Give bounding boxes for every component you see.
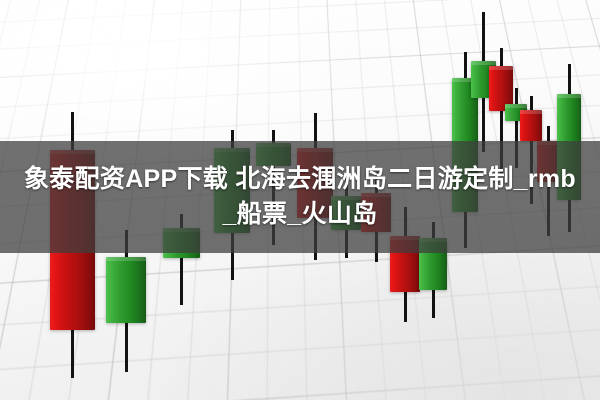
page-title: 象泰配资APP下载 北海去涠洲岛二日游定制_rmb _船票_火山岛 [0, 141, 600, 253]
candle-body-highlight [106, 257, 146, 261]
title-line-2: _船票_火山岛 [223, 197, 378, 233]
candle-body-highlight [489, 66, 513, 70]
candle-body-highlight [520, 110, 542, 114]
chart-stage: 象泰配资APP下载 北海去涠洲岛二日游定制_rmb _船票_火山岛 [0, 0, 600, 400]
candle-body-up [106, 257, 146, 323]
candle-body-highlight [557, 94, 581, 98]
title-line-1: 象泰配资APP下载 北海去涠洲岛二日游定制_rmb [24, 162, 576, 198]
